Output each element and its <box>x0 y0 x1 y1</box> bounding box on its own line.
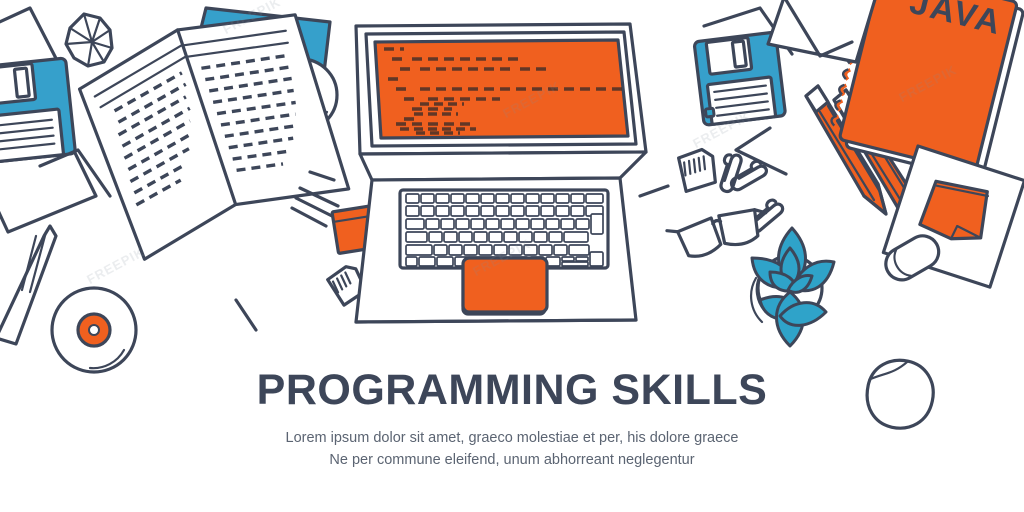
cd-disc-bottom-left <box>52 288 136 372</box>
banner-canvas: .ln{fill:none;stroke:#3D4659;stroke-widt… <box>0 0 1024 512</box>
page-title: PROGRAMMING SKILLS <box>0 368 1024 413</box>
sd-card-right <box>678 148 716 191</box>
floppy-disk-top-left <box>0 58 76 164</box>
subtitle-line-1: Lorem ipsum dolor sit amet, graeco moles… <box>0 428 1024 450</box>
laptop-trackpad <box>463 258 547 312</box>
text-block: PROGRAMMING SKILLS Lorem ipsum dolor sit… <box>0 368 1024 472</box>
subtitle-line-2: Ne per commune eleifend, unum abhorreant… <box>0 450 1024 472</box>
